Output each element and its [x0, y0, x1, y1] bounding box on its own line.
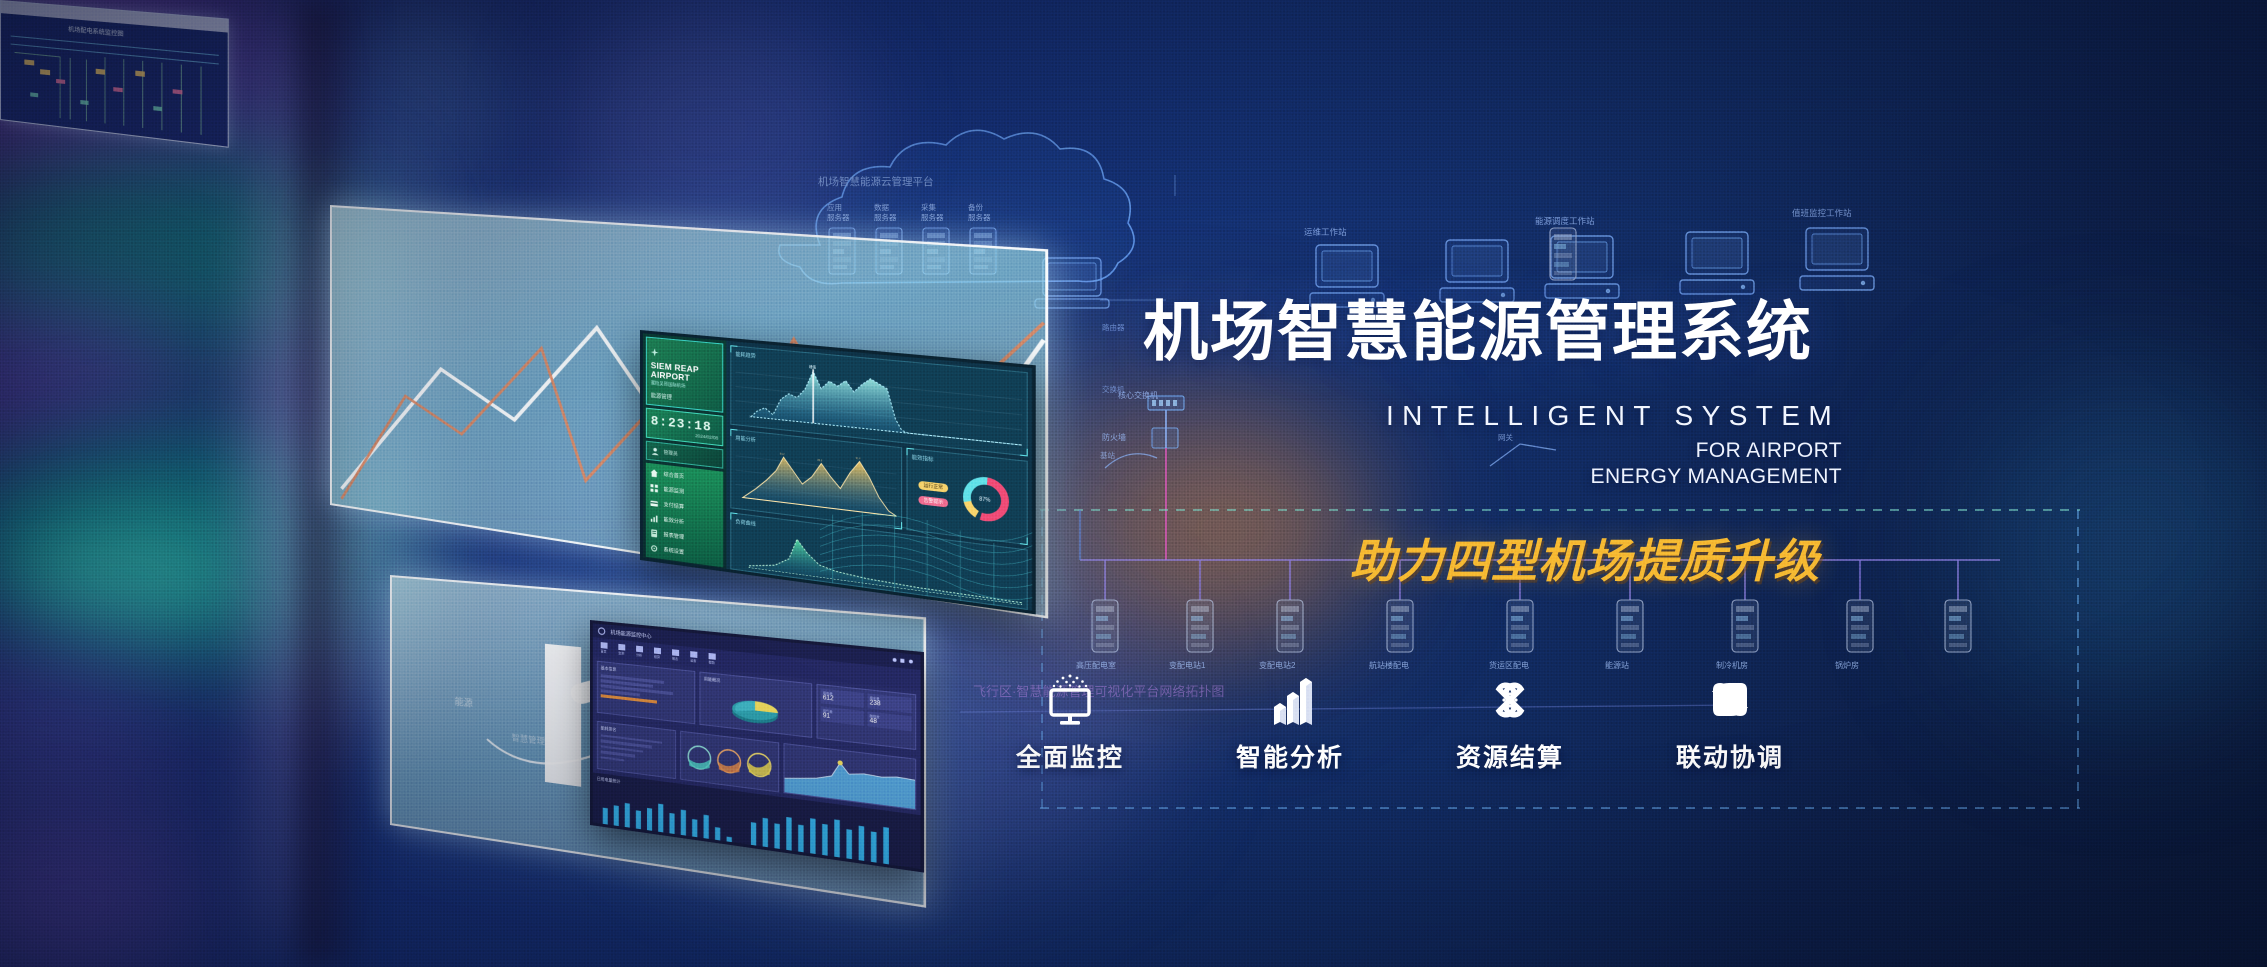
background-vignette: [0, 0, 2267, 967]
hero-banner: 机场智慧能源云管理平台 应用服务器 数据服务器 采集服务器 备份服务器 运维工作…: [0, 0, 2267, 967]
